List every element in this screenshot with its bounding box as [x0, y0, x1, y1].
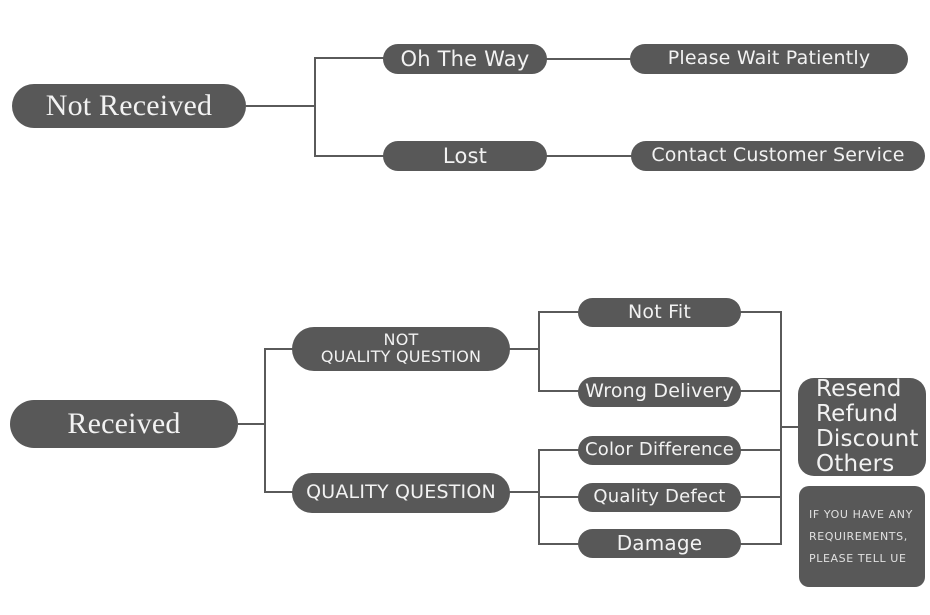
connector-branch-quality-question	[264, 491, 294, 493]
node-not-received[interactable]: Not Received	[12, 84, 246, 128]
connector-oh-the-way-to-wait	[546, 58, 632, 60]
connector-not-received-split	[314, 57, 316, 157]
note-stack: IF YOU HAVE ANY REQUIREMENTS, PLEASE TEL…	[809, 504, 913, 570]
diagram-canvas: Not Received Oh The Way Please Wait Pati…	[0, 0, 930, 615]
note-line-2: REQUIREMENTS,	[809, 526, 913, 548]
outcome-resend: Resend	[816, 377, 919, 402]
connector-damage-to-bus	[739, 543, 782, 545]
note-line-3: PLEASE TELL UE	[809, 548, 913, 570]
connector-branch-oh-the-way	[314, 57, 384, 59]
outcomes-stack: Resend Refund Discount Others	[816, 377, 919, 476]
connector-qq-to-color-difference	[538, 449, 580, 451]
connector-nqq-split	[538, 311, 540, 391]
connector-not-fit-to-bus	[739, 311, 782, 313]
connector-nqq-stem	[508, 348, 540, 350]
connector-bus-to-outcomes	[780, 426, 800, 428]
node-oh-the-way[interactable]: Oh The Way	[383, 44, 547, 74]
node-contact-customer-service[interactable]: Contact Customer Service	[631, 141, 925, 171]
outcome-others: Others	[816, 452, 919, 477]
outcome-discount: Discount	[816, 427, 919, 452]
connector-nqq-to-wrong-delivery	[538, 390, 580, 392]
connector-outcome-bus	[780, 311, 782, 545]
node-not-fit[interactable]: Not Fit	[578, 298, 741, 327]
node-not-quality-question-line2: QUALITY QUESTION	[321, 349, 481, 366]
node-not-quality-question[interactable]: NOT QUALITY QUESTION	[292, 327, 510, 371]
connector-branch-lost	[314, 155, 384, 157]
node-please-wait-patiently[interactable]: Please Wait Patiently	[630, 44, 908, 74]
connector-qq-to-quality-defect	[538, 496, 580, 498]
connector-qq-stem	[508, 491, 540, 493]
connector-branch-not-quality-question	[264, 348, 294, 350]
connector-wrong-delivery-to-bus	[739, 390, 782, 392]
note-line-1: IF YOU HAVE ANY	[809, 504, 913, 526]
connector-not-received-stem	[246, 105, 315, 107]
node-lost[interactable]: Lost	[383, 141, 547, 171]
node-requirements-note: IF YOU HAVE ANY REQUIREMENTS, PLEASE TEL…	[799, 486, 925, 587]
node-outcomes[interactable]: Resend Refund Discount Others	[798, 378, 926, 476]
node-color-difference[interactable]: Color Difference	[578, 436, 741, 465]
connector-quality-defect-to-bus	[739, 496, 782, 498]
connector-lost-to-contact	[546, 155, 632, 157]
outcome-refund: Refund	[816, 402, 919, 427]
connector-received-stem	[238, 423, 266, 425]
connector-received-split	[264, 348, 266, 493]
connector-color-difference-to-bus	[739, 449, 782, 451]
node-quality-question[interactable]: QUALITY QUESTION	[292, 473, 510, 513]
node-received[interactable]: Received	[10, 400, 238, 448]
node-damage[interactable]: Damage	[578, 529, 741, 558]
connector-qq-to-damage	[538, 543, 580, 545]
connector-nqq-to-not-fit	[538, 311, 580, 313]
node-quality-defect[interactable]: Quality Defect	[578, 483, 741, 512]
node-wrong-delivery[interactable]: Wrong Delivery	[578, 377, 741, 407]
